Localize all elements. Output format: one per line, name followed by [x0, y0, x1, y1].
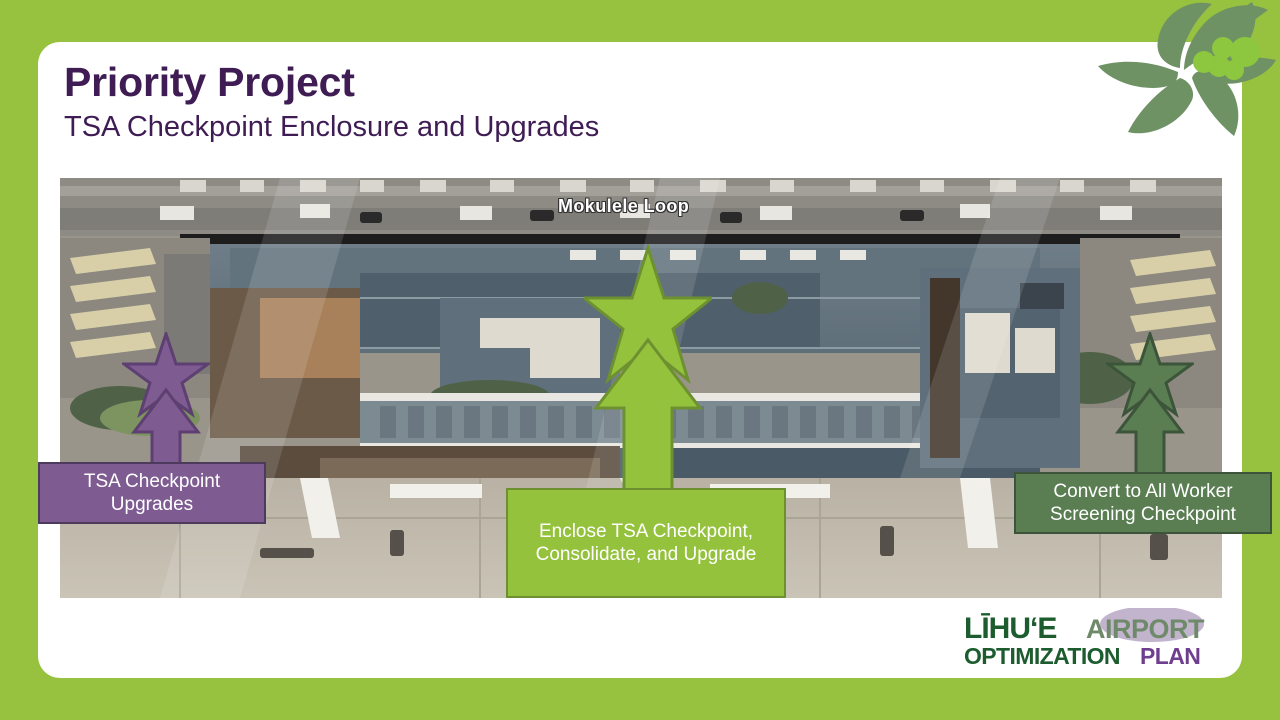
callout-enclose-tsa-checkpoint: Enclose TSA Checkpoint, Consolidate, and… [506, 488, 786, 598]
callout-text: Enclose TSA Checkpoint, Consolidate, and… [516, 520, 776, 566]
page-title: Priority Project [64, 60, 884, 106]
callout-text: Convert to All Worker Screening Checkpoi… [1022, 480, 1264, 526]
slide-root: Priority Project TSA Checkpoint Enclosur… [0, 0, 1280, 720]
logo-airport-text: AIRPORT [1086, 614, 1205, 644]
callout-text: TSA Checkpoint Upgrades [46, 470, 258, 516]
street-label-mokulele-loop: Mokulele Loop [558, 196, 689, 217]
logo-plan-text: PLAN [1140, 643, 1200, 669]
lihue-airport-optimization-plan-logo: LĪHUʻE AIRPORT OPTIMIZATION PLAN [962, 608, 1224, 670]
callout-convert-all-worker-screening: Convert to All Worker Screening Checkpoi… [1014, 472, 1272, 534]
callout-tsa-checkpoint-upgrades: TSA Checkpoint Upgrades [38, 462, 266, 524]
logo-lihue-text: LĪHUʻE [964, 612, 1056, 645]
page-subtitle: TSA Checkpoint Enclosure and Upgrades [64, 110, 884, 145]
title-block: Priority Project TSA Checkpoint Enclosur… [64, 60, 884, 145]
logo-optimization-text: OPTIMIZATION [964, 643, 1120, 669]
